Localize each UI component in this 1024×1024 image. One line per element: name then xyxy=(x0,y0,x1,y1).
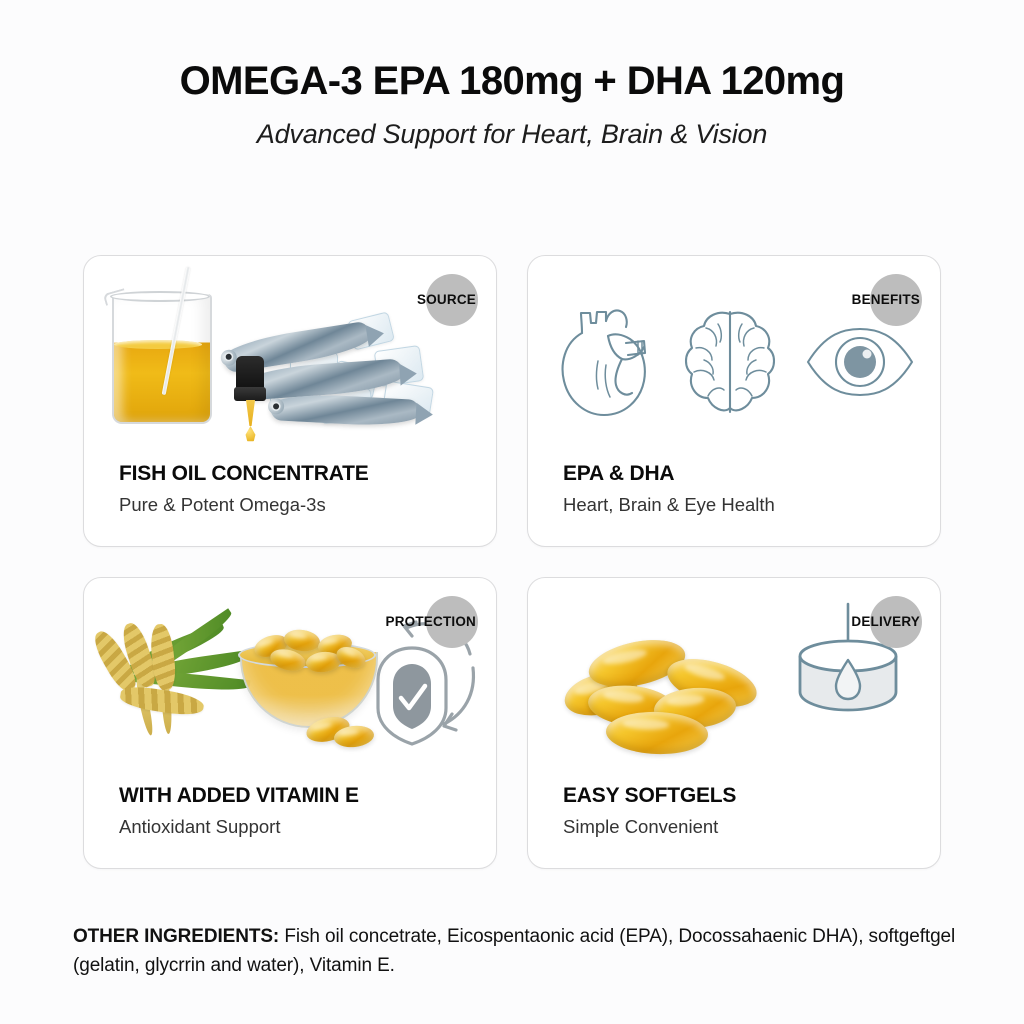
card-text-block: EPA & DHA Heart, Brain & Eye Health xyxy=(563,461,920,516)
card-title: FISH OIL CONCENTRATE xyxy=(119,461,476,486)
card-subtitle: Heart, Brain & Eye Health xyxy=(563,494,920,516)
feature-card-source[interactable]: SOURCE FISH OIL CONCENTRATE Pure & Poten… xyxy=(83,255,497,547)
card-title: WITH ADDED VITAMIN E xyxy=(119,783,476,808)
eye-icon xyxy=(804,323,916,401)
feature-card-protection[interactable]: PROTECTION WITH ADDED VITAMIN E Antioxid… xyxy=(83,577,497,869)
card-text-block: EASY SOFTGELS Simple Convenient xyxy=(563,783,920,838)
card-badge-label: PROTECTION xyxy=(385,596,476,648)
card-text-block: WITH ADDED VITAMIN E Antioxidant Support xyxy=(119,783,476,838)
feature-card-delivery[interactable]: DELIVERY EASY SOFTGELS Simple Convenient xyxy=(527,577,941,869)
card-subtitle: Antioxidant Support xyxy=(119,816,476,838)
feature-card-benefits[interactable]: BENEFITS EPA & DHA Heart, Brain & Eye He… xyxy=(527,255,941,547)
feature-card-grid: SOURCE FISH OIL CONCENTRATE Pure & Poten… xyxy=(83,255,941,869)
other-ingredients: OTHER INGREDIENTS: Fish oil concetrate, … xyxy=(73,922,963,981)
page-subtitle: Advanced Support for Heart, Brain & Visi… xyxy=(0,118,1024,150)
card-badge-label: BENEFITS xyxy=(852,274,920,326)
card-text-block: FISH OIL CONCENTRATE Pure & Potent Omega… xyxy=(119,461,476,516)
header: OMEGA-3 EPA 180mg + DHA 120mg Advanced S… xyxy=(0,58,1024,150)
page-title: OMEGA-3 EPA 180mg + DHA 120mg xyxy=(0,58,1024,104)
heart-icon xyxy=(552,303,656,421)
card-subtitle: Pure & Potent Omega-3s xyxy=(119,494,476,516)
card-title: EASY SOFTGELS xyxy=(563,783,920,808)
other-ingredients-label: OTHER INGREDIENTS: xyxy=(73,926,279,947)
brain-icon xyxy=(680,304,780,420)
card-badge-label: DELIVERY xyxy=(851,596,920,648)
card-badge-label: SOURCE xyxy=(417,274,476,326)
card-title: EPA & DHA xyxy=(563,461,920,486)
card-subtitle: Simple Convenient xyxy=(563,816,920,838)
